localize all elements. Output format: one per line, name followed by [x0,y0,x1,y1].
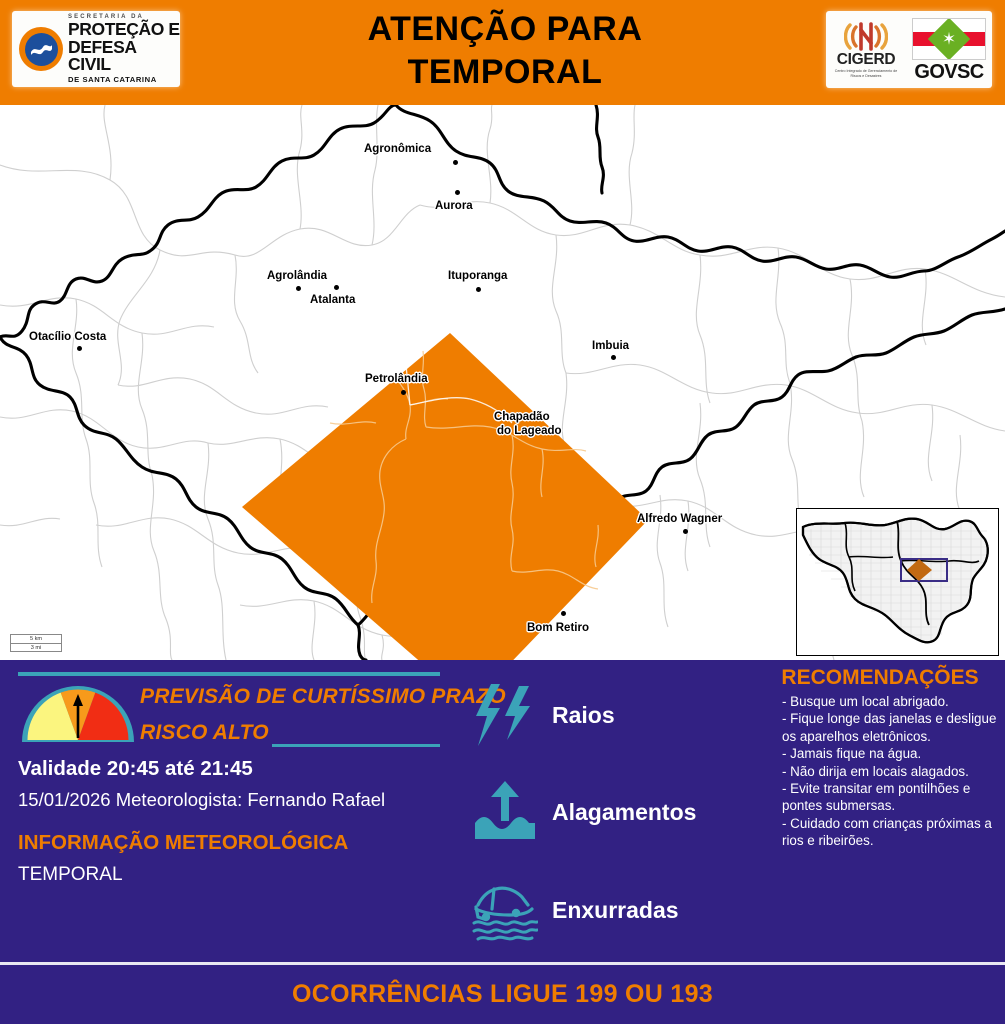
risk-level-label: RISCO ALTO [140,721,269,745]
header-banner: SECRETARIA DA PROTEÇÃO E DEFESA CIVIL DE… [0,0,1005,105]
city-label-ituporanga: Ituporanga [448,270,507,283]
city-dot [455,190,460,195]
meteorological-info-heading: INFORMAÇÃO METEOROLÓGICA [18,831,348,855]
govsc-sc: SC [957,61,984,83]
hazard-item-enxurradas: Enxurradas [468,873,679,947]
city-dot [683,529,688,534]
santa-catarina-locator-map[interactable] [796,508,999,656]
city-label-chapadao-1: Chapadão [494,411,550,424]
cigerd-name: CIGERD [830,52,902,68]
city-dot [611,355,616,360]
scalebar-km: 5 km [10,634,62,643]
city-label-alfredo-wagner: Alfredo Wagner [637,513,722,526]
recommendation-item: - Não dirija em locais alagados. [782,763,998,780]
city-dot [296,286,301,291]
flood-rising-water-icon [468,775,542,849]
recommendations-list: - Busque um local abrigado. - Fique long… [782,693,998,850]
city-label-atalanta: Atalanta [310,294,355,307]
recommendation-item: - Fique longe das janelas e desligue os … [782,710,998,745]
forecast-type-label: PREVISÃO DE CURTÍSSIMO PRAZO [140,685,506,709]
panel-top-rule [18,672,440,676]
partner-logos: CIGERD Centro Integrado de Gerenciamento… [826,11,992,88]
recommendation-item: - Jamais fique na água. [782,745,998,762]
page-title-line1: ATENÇÃO PARA [200,8,810,51]
meteorological-info-body: TEMPORAL [18,864,123,886]
hazard-label: Enxurradas [552,897,679,924]
page-title: ATENÇÃO PARA TEMPORAL [200,8,810,94]
civil-defense-emblem-icon [19,27,63,71]
city-dot [334,285,339,290]
city-dot [561,611,566,616]
logo-line-defesa-civil: DEFESA CIVIL [68,39,180,74]
civil-defense-logo: SECRETARIA DA PROTEÇÃO E DEFESA CIVIL DE… [12,11,180,87]
city-dot [77,346,82,351]
city-dot [401,390,406,395]
car-in-flood-icon [468,873,542,947]
weather-alert-poster: SECRETARIA DA PROTEÇÃO E DEFESA CIVIL DE… [0,0,1005,1024]
city-label-aurora: Aurora [435,200,473,213]
city-label-petrolandia: Petrolândia [365,373,428,386]
meteorologist-text: 15/01/2026 Meteorologista: Fernando Rafa… [18,789,385,811]
hazard-item-alagamentos: Alagamentos [468,775,696,849]
alert-polygon [242,333,648,660]
emergency-phone-text: OCORRÊNCIAS LIGUE 199 OU 193 [292,980,713,1009]
city-label-imbuia: Imbuia [592,340,629,353]
city-label-bom-retiro: Bom Retiro [527,622,589,635]
lightning-bolts-icon [468,678,542,752]
city-label-agronomica: Agronômica [364,143,431,156]
recommendation-item: - Evite transitar em pontilhões e pontes… [782,780,998,815]
city-dot [453,160,458,165]
logo-line-santa-catarina: DE SANTA CATARINA [68,76,180,84]
recommendation-item: - Cuidado com crianças próximas a rios e… [782,815,998,850]
govsc-logo: ✶ GOVSC [910,18,988,82]
santa-catarina-flag-icon: ✶ [912,18,986,60]
govsc-name: GOVSC [910,62,988,82]
cigerd-subtitle: Centro Integrado de Gerenciamento de Ris… [830,69,902,79]
page-title-line2: TEMPORAL [200,51,810,94]
scalebar-mi: 3 mi [10,643,62,652]
city-label-agrolandia: Agrolândia [267,270,327,283]
city-dot [476,287,481,292]
recommendations-heading: RECOMENDAÇÕES [760,666,1000,690]
cigerd-waves-icon [830,20,902,52]
city-label-otacilio-costa: Otacílio Costa [29,331,106,344]
validity-text: Validade 20:45 até 21:45 [18,757,253,781]
cigerd-logo: CIGERD Centro Integrado de Gerenciamento… [830,20,902,79]
risk-underline-rule [272,744,440,747]
govsc-gov: GOV [914,61,957,83]
footer-banner: OCORRÊNCIAS LIGUE 199 OU 193 [0,962,1005,1024]
alert-area-map[interactable]: Agronômica Aurora Agrolândia Ituporanga … [0,105,1005,660]
map-scalebar: 5 km 3 mi [10,634,62,652]
risk-level-gauge [18,682,138,744]
city-label-chapadao-2: do Lageado [497,425,562,438]
recommendation-item: - Busque um local abrigado. [782,693,998,710]
hazard-item-raios: Raios [468,678,615,752]
hazard-label: Raios [552,702,615,729]
hazard-label: Alagamentos [552,799,696,826]
